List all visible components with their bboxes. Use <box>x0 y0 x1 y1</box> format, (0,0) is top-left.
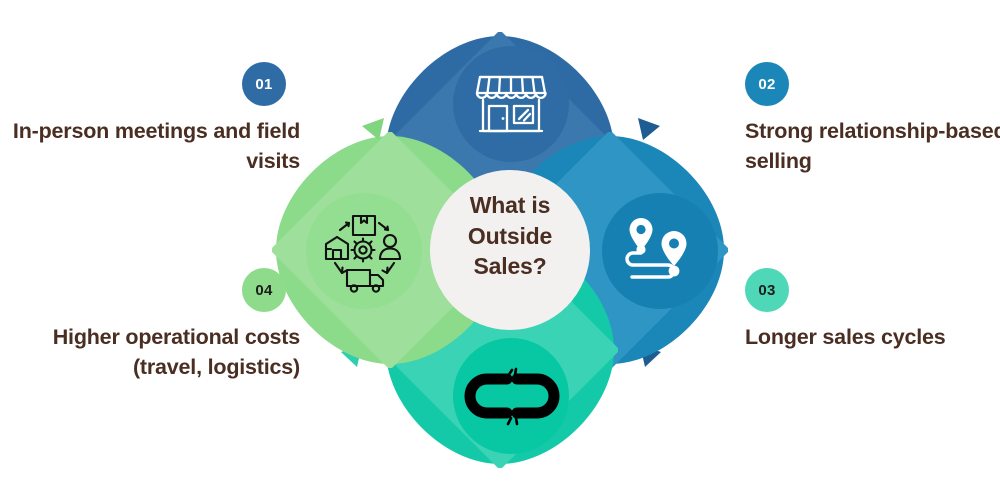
callout-01[interactable]: 01 In-person meetings and field visits <box>0 62 300 176</box>
badge-04: 04 <box>242 268 286 312</box>
petal-top-icon-disc <box>460 53 562 155</box>
callout-04[interactable]: 04 Higher operational costs (travel, log… <box>0 268 300 382</box>
callout-04-text: Higher operational costs (travel, logist… <box>10 323 300 382</box>
center-label: What is Outside Sales? <box>415 190 605 282</box>
callout-03-text: Longer sales cycles <box>745 323 946 353</box>
badge-02: 02 <box>745 62 789 106</box>
petal-right-icon-disc <box>609 200 711 302</box>
callout-03[interactable]: 03 Longer sales cycles <box>745 268 1000 353</box>
callout-02-text: Strong relationship-based selling <box>745 117 1000 176</box>
center-line-2: Outside <box>415 221 605 252</box>
marker-triangle-top-right <box>638 118 660 140</box>
badge-03: 03 <box>745 268 789 312</box>
center-line-1: What is <box>415 190 605 221</box>
center-line-3: Sales? <box>415 251 605 282</box>
badge-01: 01 <box>242 62 286 106</box>
callout-02[interactable]: 02 Strong relationship-based selling <box>745 62 1000 176</box>
callout-01-text: In-person meetings and field visits <box>10 117 300 176</box>
